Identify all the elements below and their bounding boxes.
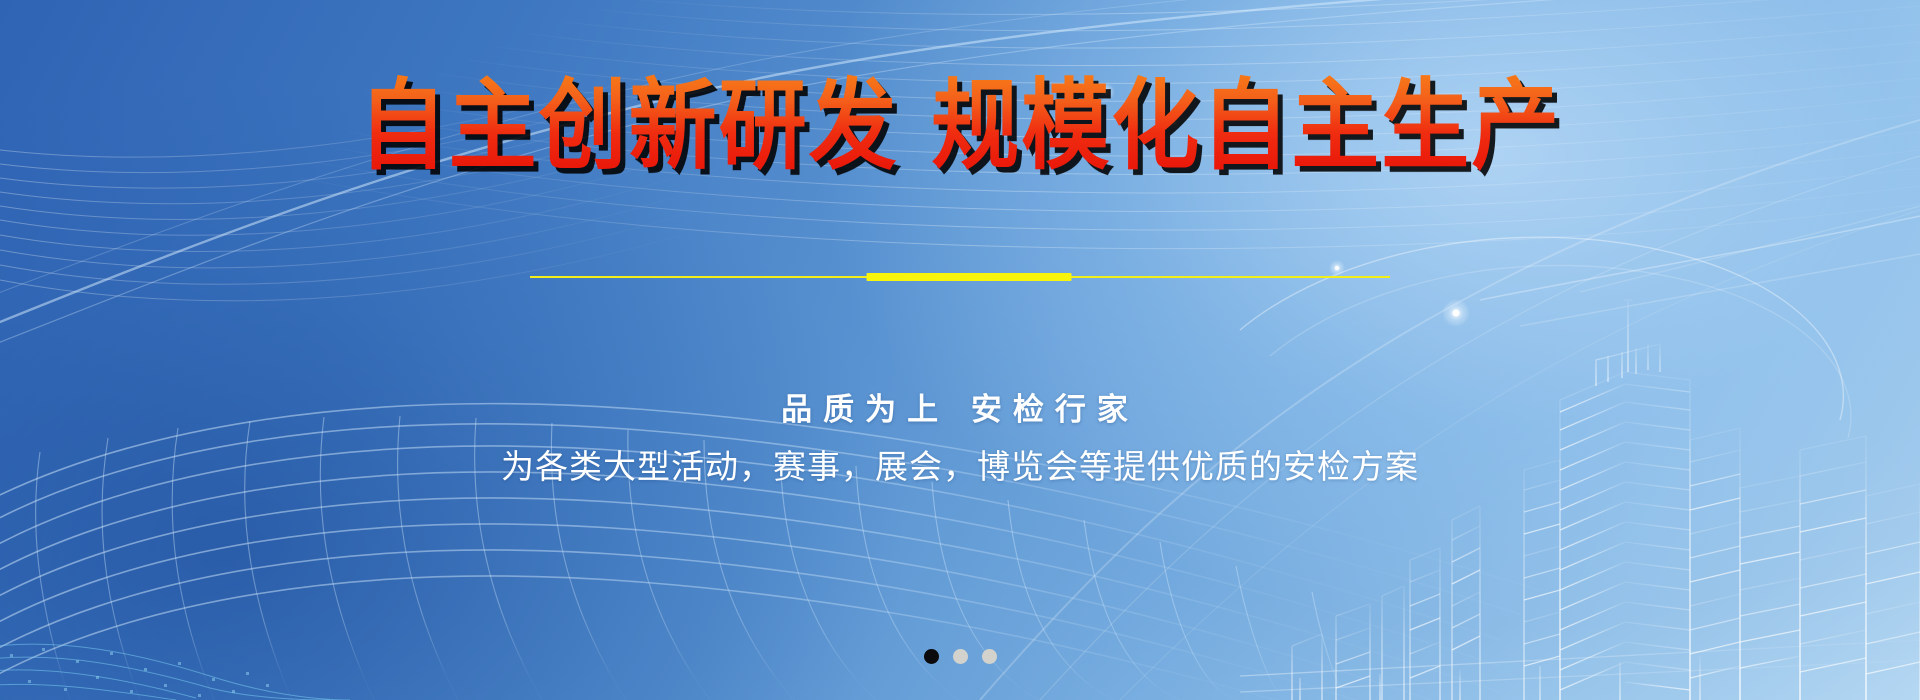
divider	[0, 268, 1920, 286]
divider-thick-segment	[866, 273, 1071, 281]
banner-subtitle: 品质为上 安检行家	[781, 384, 1139, 429]
banner-description: 为各类大型活动，赛事，展会，博览会等提供优质的安检方案	[501, 440, 1419, 488]
banner-description-container: 为各类大型活动，赛事，展会，博览会等提供优质的安检方案	[0, 440, 1920, 488]
page-title: 自主创新研发 规模化自主生产	[359, 72, 1562, 178]
banner-title-container: 自主创新研发 规模化自主生产	[0, 72, 1920, 167]
carousel-dot-2[interactable]	[953, 649, 968, 664]
carousel-dot-1[interactable]	[924, 649, 939, 664]
carousel-dot-3[interactable]	[982, 649, 997, 664]
banner-subtitle-container: 品质为上 安检行家	[0, 384, 1920, 429]
divider-inner	[530, 268, 1390, 286]
hero-banner: 自主创新研发 规模化自主生产 品质为上 安检行家 为各类大型活动，赛事，展会，博…	[0, 0, 1920, 700]
carousel-indicators[interactable]	[0, 649, 1920, 664]
